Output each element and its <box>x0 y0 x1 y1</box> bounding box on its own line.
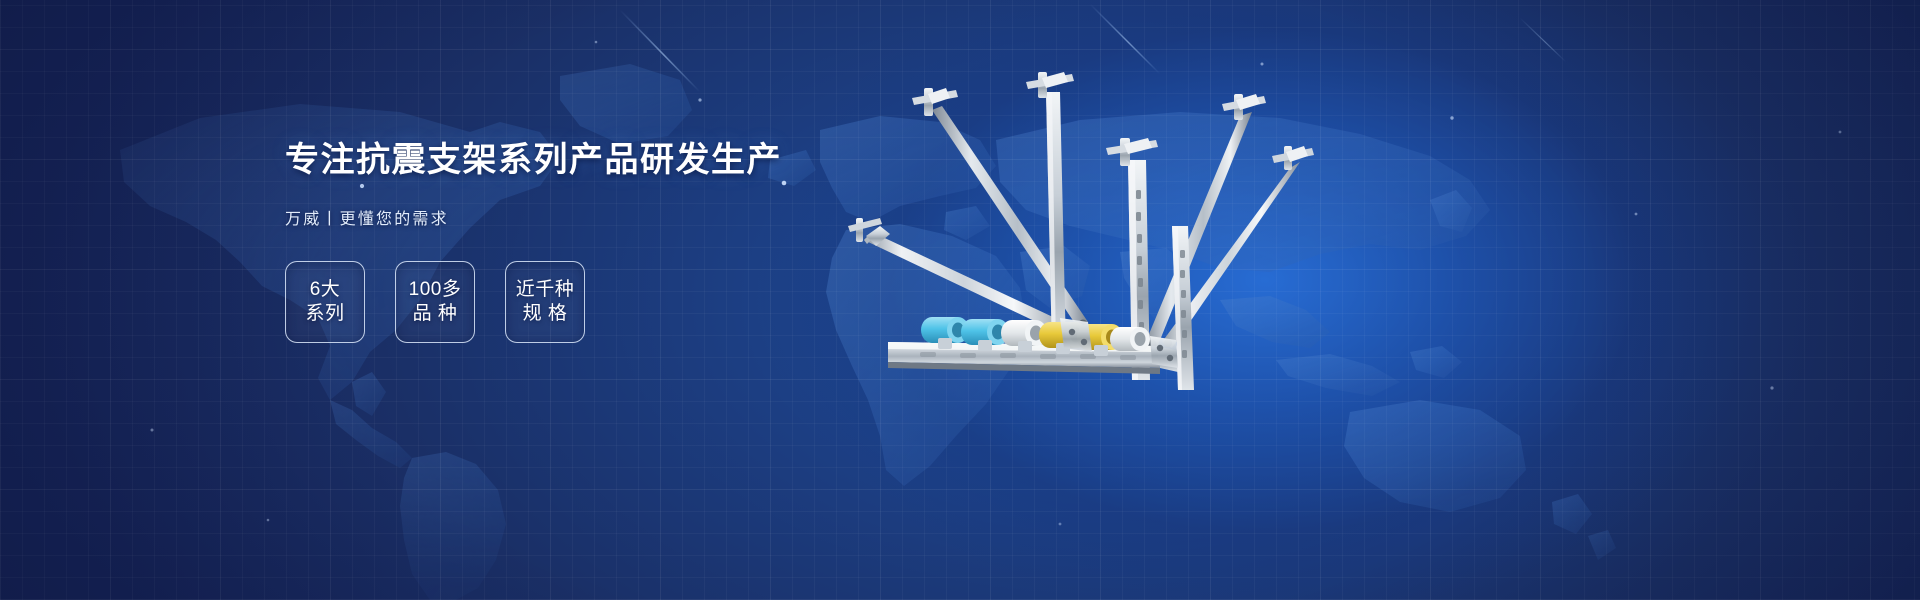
badge-line-1: 6大 <box>310 280 341 299</box>
badge-line-1: 100多 <box>409 280 462 299</box>
feature-badge-list: 6大 系列 100多 品 种 近千种 规 格 <box>285 261 845 343</box>
pipe-clamp-white-2 <box>1110 327 1150 351</box>
page-title: 专注抗震支架系列产品研发生产 <box>285 140 845 181</box>
feature-badge-varieties[interactable]: 100多 品 种 <box>395 261 475 343</box>
feature-badge-series[interactable]: 6大 系列 <box>285 261 365 343</box>
badge-line-1: 近千种 <box>516 280 575 299</box>
brace-diagonal-right-inner <box>1144 94 1266 350</box>
badge-line-2: 品 种 <box>413 304 458 323</box>
connection-hub-plate <box>1060 318 1092 352</box>
page-subtitle: 万威丨更懂您的需求 <box>285 205 845 229</box>
hero-copy: 专注抗震支架系列产品研发生产 万威丨更懂您的需求 6大 系列 100多 品 种 … <box>285 140 845 343</box>
hero-banner: 专注抗震支架系列产品研发生产 万威丨更懂您的需求 6大 系列 100多 品 种 … <box>0 0 1920 600</box>
feature-badge-specifications[interactable]: 近千种 规 格 <box>505 261 585 343</box>
product-image-seismic-brace <box>820 50 1420 430</box>
connection-hub-plate-right <box>1150 336 1178 368</box>
badge-line-2: 系列 <box>305 304 344 323</box>
badge-line-2: 规 格 <box>523 304 568 323</box>
